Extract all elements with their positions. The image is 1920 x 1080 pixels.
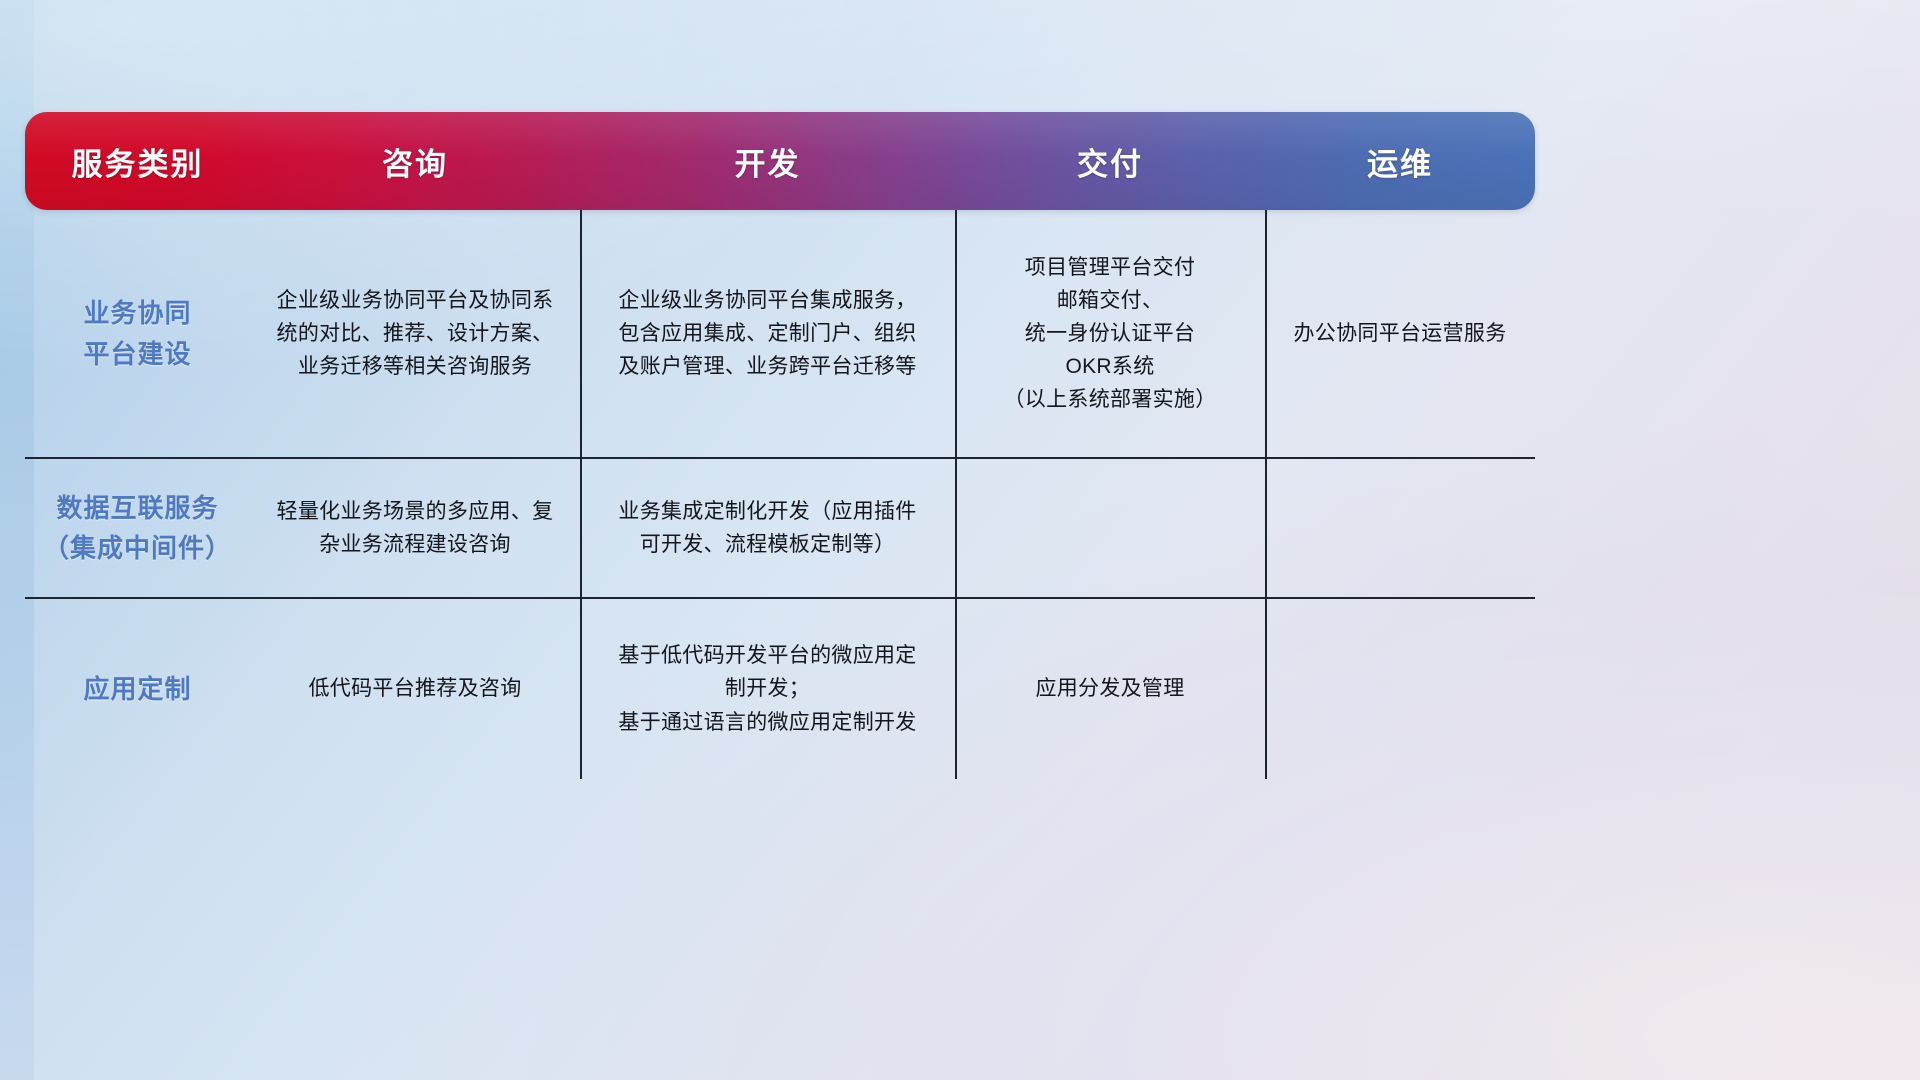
service-matrix-table: 服务类别 咨询 开发 交付 运维 业务协同 平台建设 企业级业务协同平台及协同系… [25,112,1535,775]
table-header-cell-service-category: 服务类别 [25,112,250,210]
cell-delivery: 项目管理平台交付 邮箱交付、 统一身份认证平台 OKR系统 （以上系统部署实施） [955,210,1265,457]
table-row: 数据互联服务 （集成中间件） 轻量化业务场景的多应用、复 杂业务流程建设咨询 业… [25,457,1535,597]
table-header-cell-consulting: 咨询 [250,112,580,210]
cell-consulting: 低代码平台推荐及咨询 [250,599,580,779]
cell-text: 项目管理平台交付 邮箱交付、 统一身份认证平台 OKR系统 （以上系统部署实施） [1004,251,1217,417]
table-header-cell-development: 开发 [580,112,955,210]
row-label-text: 数据互联服务 （集成中间件） [43,488,232,569]
cell-operations: 办公协同平台运营服务 [1265,210,1535,457]
cell-text: 低代码平台推荐及咨询 [309,672,522,705]
row-label-cell: 数据互联服务 （集成中间件） [25,459,250,597]
cell-text: 轻量化业务场景的多应用、复 杂业务流程建设咨询 [277,495,554,561]
table-header-cell-delivery: 交付 [955,112,1265,210]
table-header-cell-operations: 运维 [1265,112,1535,210]
cell-text: 基于低代码开发平台的微应用定 制开发； 基于通过语言的微应用定制开发 [618,639,916,739]
cell-development: 企业级业务协同平台集成服务， 包含应用集成、定制门户、组织 及账户管理、业务跨平… [580,210,955,457]
row-label-cell: 应用定制 [25,599,250,779]
cell-development: 业务集成定制化开发（应用插件 可开发、流程模板定制等） [580,459,955,597]
cell-development: 基于低代码开发平台的微应用定 制开发； 基于通过语言的微应用定制开发 [580,599,955,779]
table-body: 业务协同 平台建设 企业级业务协同平台及协同系 统的对比、推荐、设计方案、 业务… [25,210,1535,779]
cell-text: 应用分发及管理 [1035,672,1184,705]
cell-delivery: 应用分发及管理 [955,599,1265,779]
row-label-text: 业务协同 平台建设 [83,293,191,374]
table-header-row: 服务类别 咨询 开发 交付 运维 [25,112,1535,210]
cell-operations [1265,459,1535,597]
cell-text: 办公协同平台运营服务 [1294,317,1507,350]
cell-consulting: 轻量化业务场景的多应用、复 杂业务流程建设咨询 [250,459,580,597]
row-label-cell: 业务协同 平台建设 [25,210,250,457]
cell-text: 业务集成定制化开发（应用插件 可开发、流程模板定制等） [618,495,916,561]
cell-operations [1265,599,1535,779]
table-row: 应用定制 低代码平台推荐及咨询 基于低代码开发平台的微应用定 制开发； 基于通过… [25,597,1535,779]
cell-delivery [955,459,1265,597]
table-row: 业务协同 平台建设 企业级业务协同平台及协同系 统的对比、推荐、设计方案、 业务… [25,210,1535,457]
cell-text: 企业级业务协同平台集成服务， 包含应用集成、定制门户、组织 及账户管理、业务跨平… [618,284,916,384]
row-label-text: 应用定制 [83,669,191,709]
cell-consulting: 企业级业务协同平台及协同系 统的对比、推荐、设计方案、 业务迁移等相关咨询服务 [250,210,580,457]
cell-text: 企业级业务协同平台及协同系 统的对比、推荐、设计方案、 业务迁移等相关咨询服务 [277,284,554,384]
